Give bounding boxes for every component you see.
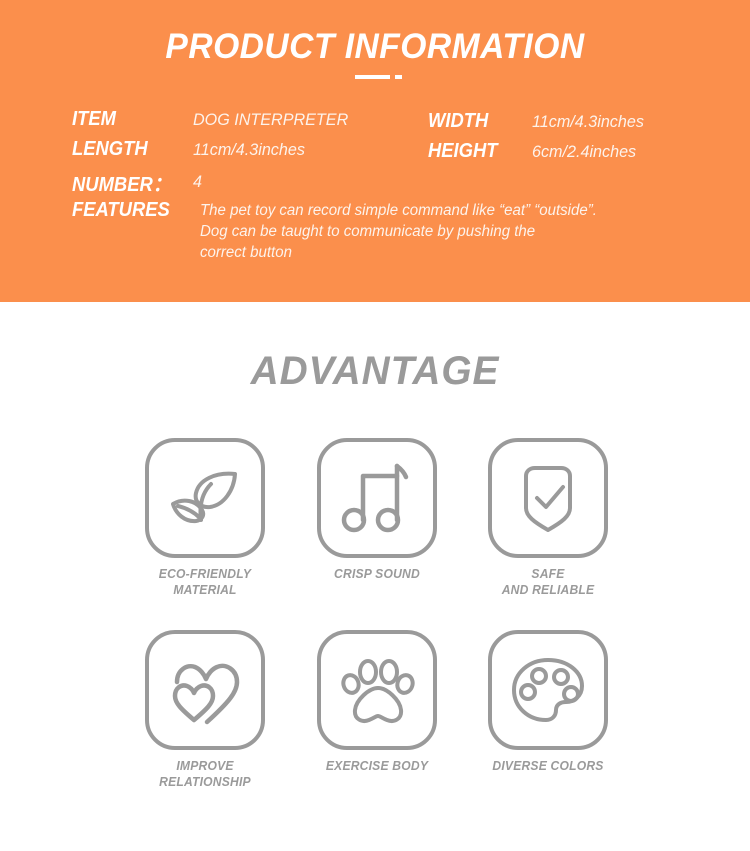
icon-tile <box>488 438 608 558</box>
page-title: PRODUCT INFORMATION <box>15 26 735 68</box>
advantage-item-exercise-body[interactable]: EXERCISE BODY <box>291 620 463 812</box>
spec-value-number: 4 <box>193 172 202 192</box>
spec-value-item: DOG INTERPRETER <box>193 110 348 130</box>
features-line-3: correct button <box>200 242 724 263</box>
advantage-label: IMPROVE RELATIONSHIP <box>122 758 289 790</box>
advantage-label-line-1: ECO-FRIENDLY <box>122 566 289 582</box>
advantage-label-line-2: MATERIAL <box>122 582 289 598</box>
icon-tile <box>317 630 437 750</box>
advantage-title: ADVANTAGE <box>11 347 739 395</box>
advantage-row-1: ECO-FRIENDLY MATERIAL <box>0 428 750 620</box>
features-line-2: Dog can be taught to communicate by push… <box>200 221 724 242</box>
advantage-item-safe-reliable[interactable]: SAFE AND RELIABLE <box>462 428 634 620</box>
divider-long-bar <box>355 75 390 79</box>
advantage-label-line-1: SAFE <box>465 566 632 582</box>
advantage-label: DIVERSE COLORS <box>465 758 632 774</box>
spec-label-width: WIDTH <box>428 110 488 133</box>
spec-value-width: 11cm/4.3inches <box>532 112 644 132</box>
advantage-label-line-1: IMPROVE <box>122 758 289 774</box>
spec-value-length: 11cm/4.3inches <box>193 140 305 160</box>
advantage-label: ECO-FRIENDLY MATERIAL <box>122 566 289 598</box>
advantage-item-crisp-sound[interactable]: CRISP SOUND <box>291 428 463 620</box>
icon-tile <box>317 438 437 558</box>
advantage-label: SAFE AND RELIABLE <box>465 566 632 598</box>
spec-label-height: HEIGHT <box>428 140 498 163</box>
shield-check-icon <box>492 442 604 554</box>
two-hearts-icon <box>149 634 261 746</box>
spec-label-item: ITEM <box>72 108 116 131</box>
spec-label-length: LENGTH <box>72 138 148 161</box>
icon-tile <box>145 630 265 750</box>
advantage-item-diverse-colors[interactable]: DIVERSE COLORS <box>462 620 634 812</box>
advantage-label-line-1: DIVERSE COLORS <box>465 758 632 774</box>
title-divider <box>0 75 750 80</box>
spec-value-height: 6cm/2.4inches <box>532 142 636 162</box>
advantage-label-line-2: RELATIONSHIP <box>122 774 289 790</box>
icon-tile <box>145 438 265 558</box>
spec-value-features: The pet toy can record simple command li… <box>200 200 724 263</box>
advantage-label-line-1: CRISP SOUND <box>294 566 461 582</box>
spec-label-number: NUMBER： <box>72 168 171 197</box>
icon-tile <box>488 630 608 750</box>
advantage-item-improve-relationship[interactable]: IMPROVE RELATIONSHIP <box>119 620 291 812</box>
leaf-sprout-icon <box>149 442 261 554</box>
advantage-section: ADVANTAGE ECO-FRIENDLY <box>0 302 750 851</box>
advantage-label: CRISP SOUND <box>294 566 461 582</box>
paw-print-icon <box>321 634 433 746</box>
features-line-1: The pet toy can record simple command li… <box>200 200 724 221</box>
product-information-panel: PRODUCT INFORMATION ITEM DOG INTERPRETER… <box>0 0 750 302</box>
spec-label-features: FEATURES <box>72 199 170 222</box>
advantage-grid: ECO-FRIENDLY MATERIAL <box>0 428 750 812</box>
advantage-label: EXERCISE BODY <box>294 758 461 774</box>
music-notes-icon <box>321 442 433 554</box>
divider-short-bar <box>395 75 402 79</box>
color-palette-icon <box>492 634 604 746</box>
advantage-row-2: IMPROVE RELATIONSHIP <box>0 620 750 812</box>
advantage-label-line-2: AND RELIABLE <box>465 582 632 598</box>
advantage-item-eco-friendly[interactable]: ECO-FRIENDLY MATERIAL <box>119 428 291 620</box>
advantage-label-line-1: EXERCISE BODY <box>294 758 461 774</box>
